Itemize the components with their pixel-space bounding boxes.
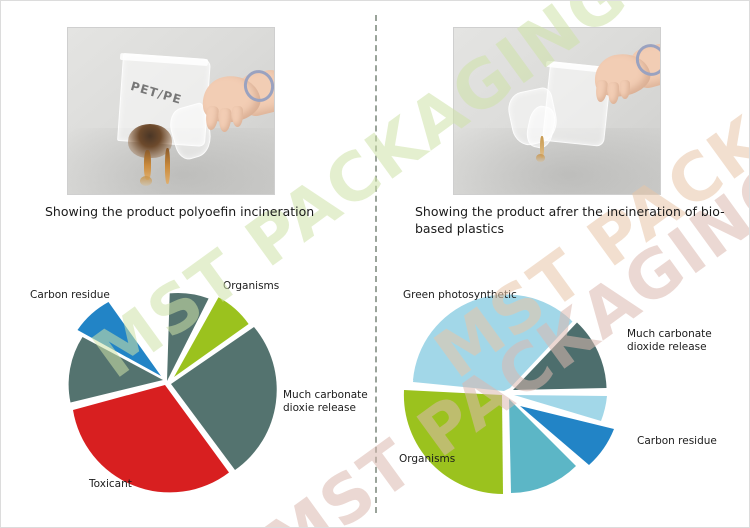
pie-label-much-carbonate-left: Much carbonate dioxie release — [283, 389, 368, 415]
pie-chart-biobased: Green photosynthetic Much carbonate diox… — [389, 269, 739, 513]
vertical-divider — [375, 15, 377, 513]
burn-residue-left — [140, 176, 152, 186]
photo-polyolefin-incineration: PET/PE — [67, 27, 275, 195]
burn-residue-right — [536, 154, 545, 162]
pie-chart-right-svg — [389, 269, 739, 513]
pie-slice-organisms-right[interactable] — [404, 390, 503, 494]
pie-label-toxicant-left: Toxicant — [89, 478, 132, 491]
pie-label-green-photosynthetic: Green photosynthetic — [403, 289, 517, 302]
pie-label-organisms-right: Organisms — [399, 453, 455, 466]
pie-slices-left — [69, 293, 277, 492]
caption-right: Showing the product afrer the incinerati… — [415, 204, 731, 237]
pie-label-carbon-residue-right: Carbon residue — [637, 435, 717, 448]
molten-drip-2 — [165, 148, 170, 184]
pie-label-carbon-residue-left: Carbon residue — [30, 289, 110, 302]
photo-biobased-incineration — [453, 27, 661, 195]
pie-label-much-carbonate-right: Much carbonate dioxide release — [627, 328, 712, 354]
pie-label-organisms-left: Organisms — [223, 280, 279, 293]
caption-left: Showing the product polyoefin incinerati… — [45, 204, 365, 221]
infographic-page: MST PACKAGING MST PACKAGING MST PACKAGIN… — [0, 0, 750, 528]
pie-chart-polyolefin: Carbon residue Organisms Much carbonate … — [39, 263, 369, 513]
